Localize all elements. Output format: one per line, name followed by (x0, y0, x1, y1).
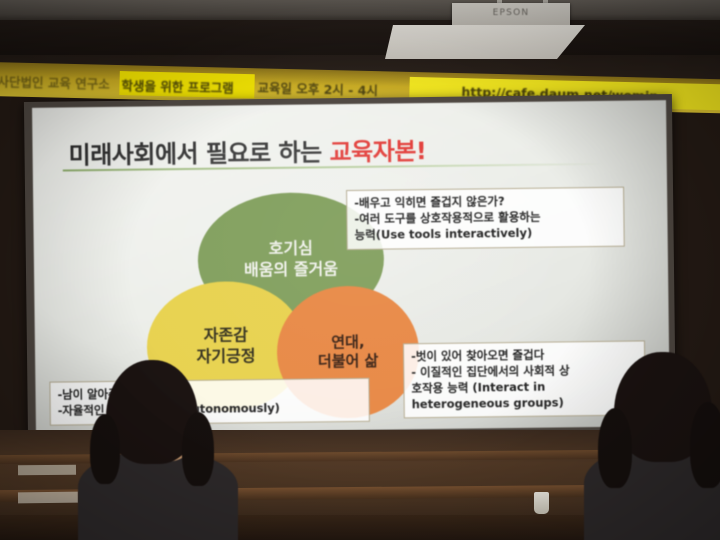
venn-circle-solidarity-line1: 연대, (331, 332, 365, 352)
attendee-left-hair-right (182, 412, 214, 486)
ceiling-panel (0, 0, 720, 20)
venn-circle-curiosity-line1: 호기심 (269, 239, 313, 260)
lecture-room-photo: EPSON 사단법인 교육 연구소 학생을 위한 프로그램 교육일 오후 2시 … (0, 0, 720, 540)
paper-cup (534, 492, 549, 514)
banner-text-segment-3: 교육일 오후 2시 - 4시 (257, 77, 378, 99)
slide-title-main: 미래사회에서 필요로 하는 (68, 138, 329, 169)
attendee-left-hair-left (90, 414, 120, 484)
venn-circle-curiosity-line2: 배움의 즐거움 (244, 259, 338, 281)
banner-text-segment-1: 사단법인 교육 연구소 (0, 71, 110, 93)
venn-circle-solidarity-line2: 더불어 삶 (318, 352, 379, 372)
bench-highlight-lower (18, 492, 78, 504)
projector-brand-label: EPSON (452, 8, 570, 18)
venn-circle-self-esteem-line1: 자존감 (204, 325, 248, 346)
banner-text-segment-2: 학생을 위한 프로그램 (121, 75, 234, 97)
seated-attendee-left (78, 360, 268, 540)
slide-title-accent: 교육자본! (329, 137, 426, 166)
slide-title: 미래사회에서 필요로 하는 교육자본! (68, 131, 426, 170)
attendee-right-hair-right (690, 402, 720, 488)
bench-highlight-upper (18, 465, 76, 476)
attendee-right-hair-left (598, 408, 632, 488)
callout-use-tools: -배우고 익히면 즐겁지 않은가? -여러 도구를 상호작용적으로 활용하는 능… (346, 187, 625, 250)
projector-lens-plate (385, 25, 585, 59)
callout-use-tools-line-3: 능력(Use tools interactively) (355, 224, 617, 243)
seated-attendee-right (578, 352, 720, 540)
